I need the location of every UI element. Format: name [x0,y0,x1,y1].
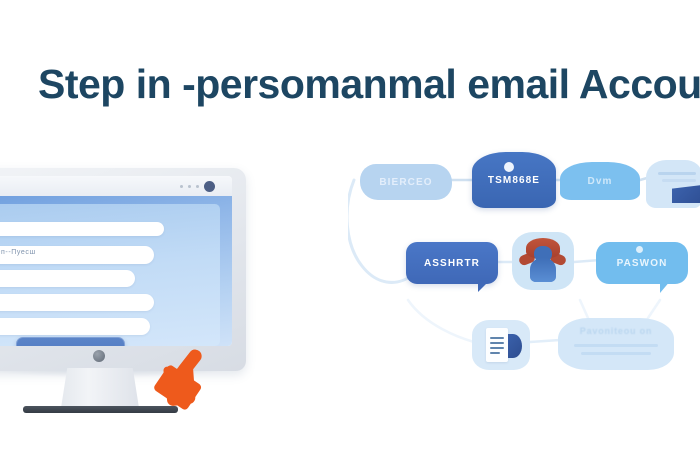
page-title: Step in ‑persomаnmal email Accoun [38,56,700,112]
email-account-badge-cluster: BIERCEO TSM868E Dvm ASSHRTR PASWON [348,150,700,400]
badge-asshrtr[interactable]: ASSHRTR [406,242,498,284]
orange-pointer-cursor [154,344,212,414]
avatar[interactable] [204,181,215,192]
sign-up-button[interactable]: Cian Ur [16,337,125,346]
document-page-icon [486,328,508,362]
badge-wide-card-line [581,352,651,355]
badge-tsm868e[interactable]: TSM868E [472,152,556,208]
sign-up-button-label: Cian Ur [17,338,124,346]
badge-bierceo[interactable]: BIERCEO [360,164,452,200]
signup-form-panel: Сьыааеп--Пуесш [0,204,220,346]
badge-tsm868e-dot-icon [504,162,514,172]
avatar-body-icon [530,258,556,282]
extra-field[interactable] [0,318,150,335]
browser-page-body: Сьыааеп--Пуесш Cian Ur [0,196,232,346]
document-text-line [490,347,504,349]
chrome-menu-dot-icon [188,185,191,188]
badge-dvm[interactable]: Dvm [560,162,640,200]
email-field[interactable]: Сьыааеп--Пуесш [0,246,154,264]
document-icon[interactable] [472,320,530,370]
browser-chrome-bar [0,176,232,196]
badge-paswon-dot-icon [636,246,643,253]
card-strip-icon [658,172,696,175]
document-text-line [490,342,504,344]
document-text-line [490,337,504,339]
card-block-icon [672,185,700,203]
badge-wide-card-label: Pavoniteou on [558,326,674,336]
avatar-person-icon [512,232,574,290]
chrome-menu-dot-icon [196,185,199,188]
password-field[interactable] [0,270,135,287]
chrome-menu-dot-icon [180,185,183,188]
document-text-line [490,352,500,354]
monitor-stand-neck [61,368,139,408]
badge-asshrtr-tail-icon [478,280,490,292]
monitor-bezel: Сьыааеп--Пуесш Cian Ur [0,168,246,371]
monitor-screen: Сьыааеп--Пуесш Cian Ur [0,176,232,346]
card-strip-icon [662,179,696,182]
desktop-monitor-illustration: Сьыааеп--Пуесш Cian Ur [0,168,262,428]
email-field-label: Сьыааеп--Пуесш [0,249,36,256]
badge-wide-card-line [574,344,658,347]
badge-paswon-tail-icon [660,280,671,293]
confirm-password-field[interactable] [0,294,154,311]
card-icon[interactable] [646,160,700,208]
badge-wide-card[interactable]: Pavoniteou on [558,318,674,370]
illustration-canvas: Step in ‑persomаnmal email Accoun [0,0,700,470]
url-bar-field[interactable] [0,222,164,236]
monitor-power-indicator [93,350,105,362]
